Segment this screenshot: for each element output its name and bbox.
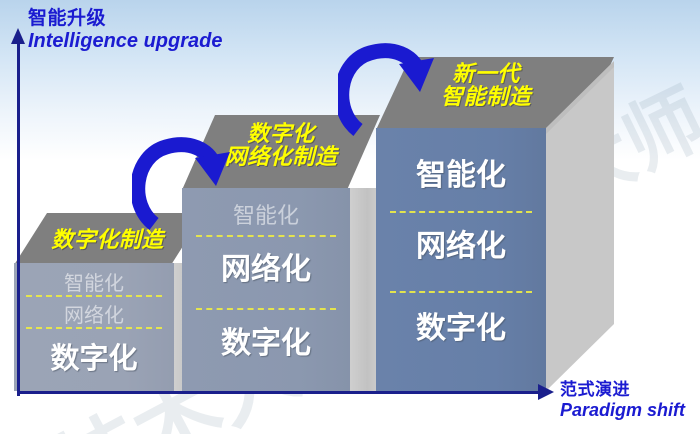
y-axis-arrowhead-icon <box>11 28 25 44</box>
step-3-row-2: 网络化 <box>376 221 546 265</box>
x-axis-line <box>18 391 544 394</box>
diagram-canvas: 技术大师 技术大师 技术大师 智能化 网络化 数字化 数字化制造 智能化 <box>0 0 700 434</box>
step-2-row-3: 数字化 <box>182 318 350 362</box>
step-1-row-1: 智能化 <box>14 267 174 296</box>
x-axis-arrowhead-icon <box>538 384 554 400</box>
step-1-row-2: 网络化 <box>14 299 174 328</box>
transition-arrow-2 <box>338 42 448 137</box>
x-axis-caption-en: Paradigm shift <box>560 400 685 421</box>
y-axis-line <box>17 40 20 396</box>
step-3-divider-1 <box>390 211 532 213</box>
x-axis-caption-zh: 范式演进 <box>560 380 685 400</box>
step-3-row-3: 数字化 <box>376 303 546 347</box>
x-axis-caption: 范式演进 Paradigm shift <box>560 380 685 421</box>
step-2-row-2: 网络化 <box>182 244 350 288</box>
step-3-divider-2 <box>390 291 532 293</box>
y-axis-caption-en: Intelligence upgrade <box>28 30 222 54</box>
step-1-row-3: 数字化 <box>14 335 174 377</box>
y-axis-caption-zh: 智能升级 <box>28 8 222 30</box>
transition-arrow-1 <box>132 132 242 232</box>
step-3-row-1: 智能化 <box>376 150 546 194</box>
step-1-divider-2 <box>26 327 162 329</box>
step-1-divider-1 <box>26 295 162 297</box>
y-axis-caption: 智能升级 Intelligence upgrade <box>28 8 222 54</box>
step-2-divider-1 <box>196 235 336 237</box>
step-3-side-face <box>546 61 620 391</box>
step-1-front-face: 智能化 网络化 数字化 <box>14 263 174 391</box>
step-3-front-face: 智能化 网络化 数字化 <box>376 128 546 391</box>
step-2-divider-2 <box>196 308 336 310</box>
step-2-side-face <box>350 188 379 391</box>
step-1-rows: 智能化 网络化 数字化 <box>14 263 174 391</box>
step-3-rows: 智能化 网络化 数字化 <box>376 128 546 391</box>
